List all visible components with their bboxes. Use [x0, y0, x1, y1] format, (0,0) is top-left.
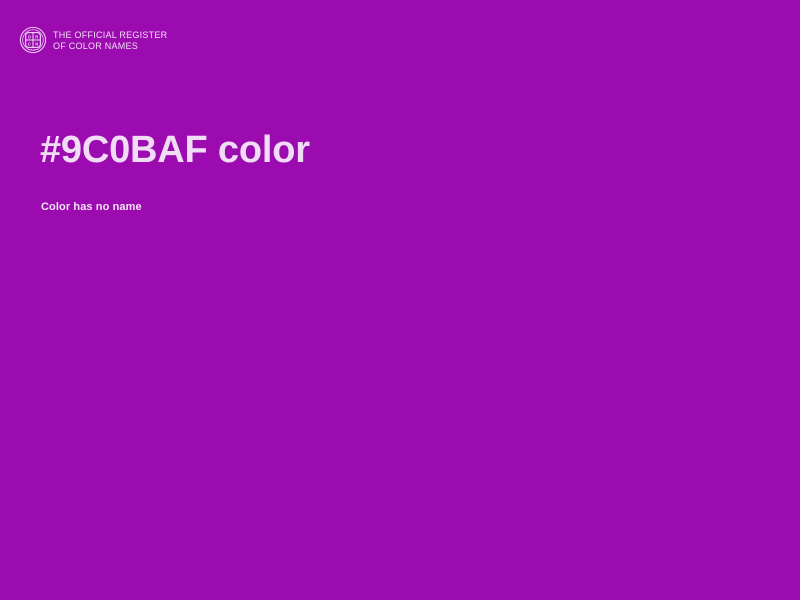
brand-lockup[interactable]: O R C N THE OFFICIAL REGISTER OF COLOR N… [19, 26, 167, 54]
svg-text:O: O [28, 34, 32, 39]
color-page: O R C N THE OFFICIAL REGISTER OF COLOR N… [0, 0, 800, 600]
color-info-block: #9C0BAF color Color has no name [40, 128, 760, 214]
color-name-status: Color has no name [41, 200, 760, 214]
svg-text:C: C [28, 42, 31, 47]
svg-text:R: R [35, 34, 38, 39]
svg-text:N: N [35, 42, 38, 47]
register-seal-icon: O R C N [19, 26, 47, 54]
brand-wordmark-line-1: THE OFFICIAL REGISTER [53, 30, 167, 41]
brand-wordmark: THE OFFICIAL REGISTER OF COLOR NAMES [53, 30, 167, 51]
brand-wordmark-line-2: OF COLOR NAMES [53, 41, 167, 52]
page-title: #9C0BAF color [40, 128, 760, 172]
